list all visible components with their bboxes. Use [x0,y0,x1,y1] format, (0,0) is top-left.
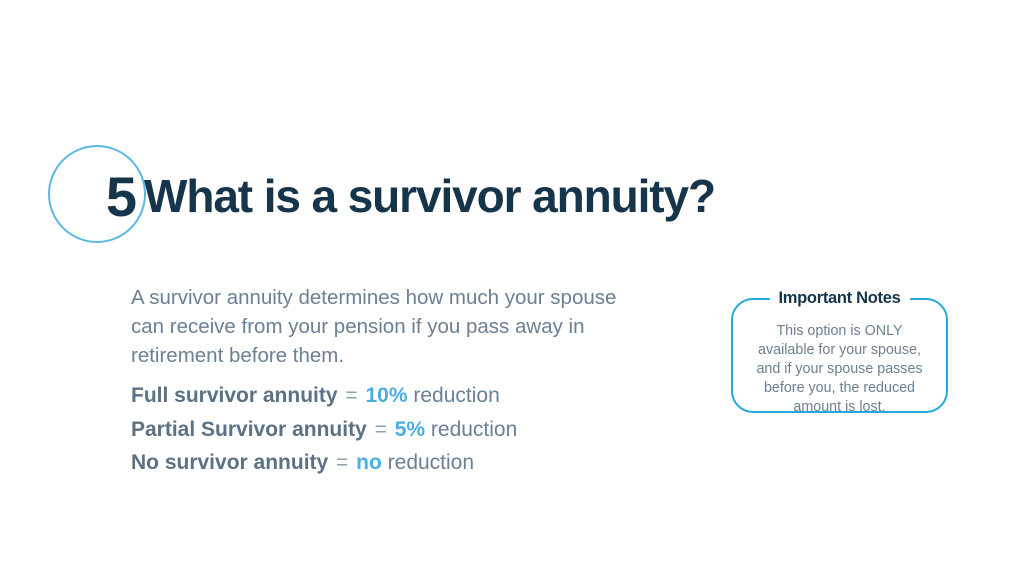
step-number-badge: 5 [48,145,150,245]
option-equals: = [343,384,359,407]
important-notes-card: Important Notes This option is ONLY avai… [731,298,948,413]
annuity-option-list: Full survivor annuity = 10% reduction Pa… [131,379,691,480]
slide-canvas: 5 What is a survivor annuity? A survivor… [0,0,1024,576]
important-notes-title: Important Notes [769,288,909,309]
option-value: no [356,451,382,474]
page-title: What is a survivor annuity? [144,171,715,219]
intro-paragraph: A survivor annuity determines how much y… [131,283,641,370]
option-equals: = [373,418,389,441]
option-label: Full survivor annuity [131,384,338,407]
list-item: Partial Survivor annuity = 5% reduction [131,413,691,447]
option-value: 5% [395,418,425,441]
option-value: 10% [366,384,408,407]
list-item: No survivor annuity = no reduction [131,446,691,480]
slide-heading-block: 5 What is a survivor annuity? [48,145,715,245]
list-item: Full survivor annuity = 10% reduction [131,379,691,413]
option-label: No survivor annuity [131,451,328,474]
option-label: Partial Survivor annuity [131,418,367,441]
important-notes-body: This option is ONLY available for your s… [733,300,946,417]
option-equals: = [334,451,350,474]
option-suffix: reduction [388,451,474,474]
option-suffix: reduction [413,384,499,407]
option-suffix: reduction [431,418,517,441]
